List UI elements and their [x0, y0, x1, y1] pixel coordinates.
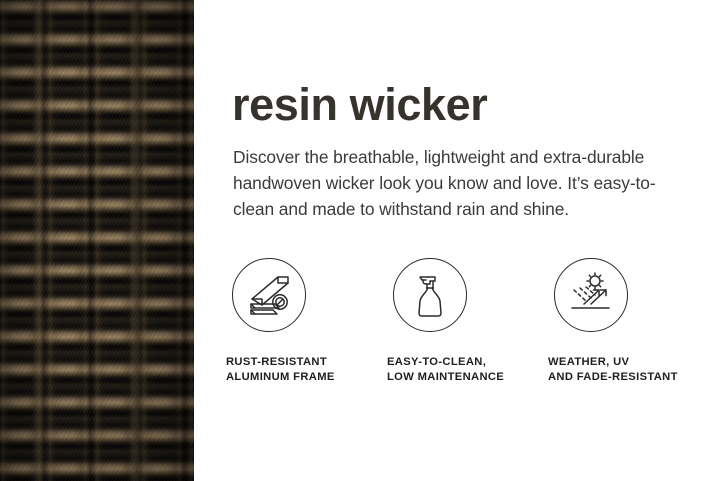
feature-label-weather-uv-resistant: WEATHER, UV AND FADE-RESISTANT	[548, 332, 715, 385]
sun-uv-deflect-icon	[554, 258, 628, 332]
description-paragraph: Discover the breathable, lightweight and…	[233, 144, 691, 222]
wicker-weave-layers	[0, 0, 194, 481]
feature-list: RUST-RESISTANT ALUMINUM FRAME	[232, 258, 714, 385]
content-area: resin wicker Discover the breathable, li…	[194, 0, 720, 481]
feature-label-rust-resistant: RUST-RESISTANT ALUMINUM FRAME	[226, 332, 393, 385]
resin-wicker-promo-banner: resin wicker Discover the breathable, li…	[0, 0, 720, 481]
aluminum-no-rust-icon	[232, 258, 306, 332]
feature-item-easy-to-clean: EASY-TO-CLEAN, LOW MAINTENANCE	[393, 258, 554, 385]
feature-label-easy-to-clean: EASY-TO-CLEAN, LOW MAINTENANCE	[387, 332, 554, 385]
weave-shading-overlay	[0, 0, 194, 481]
page-title: resin wicker	[232, 81, 487, 129]
feature-item-rust-resistant: RUST-RESISTANT ALUMINUM FRAME	[232, 258, 393, 385]
wicker-texture-image	[0, 0, 194, 481]
feature-item-weather-uv-resistant: WEATHER, UV AND FADE-RESISTANT	[554, 258, 715, 385]
spray-bottle-icon	[393, 258, 467, 332]
